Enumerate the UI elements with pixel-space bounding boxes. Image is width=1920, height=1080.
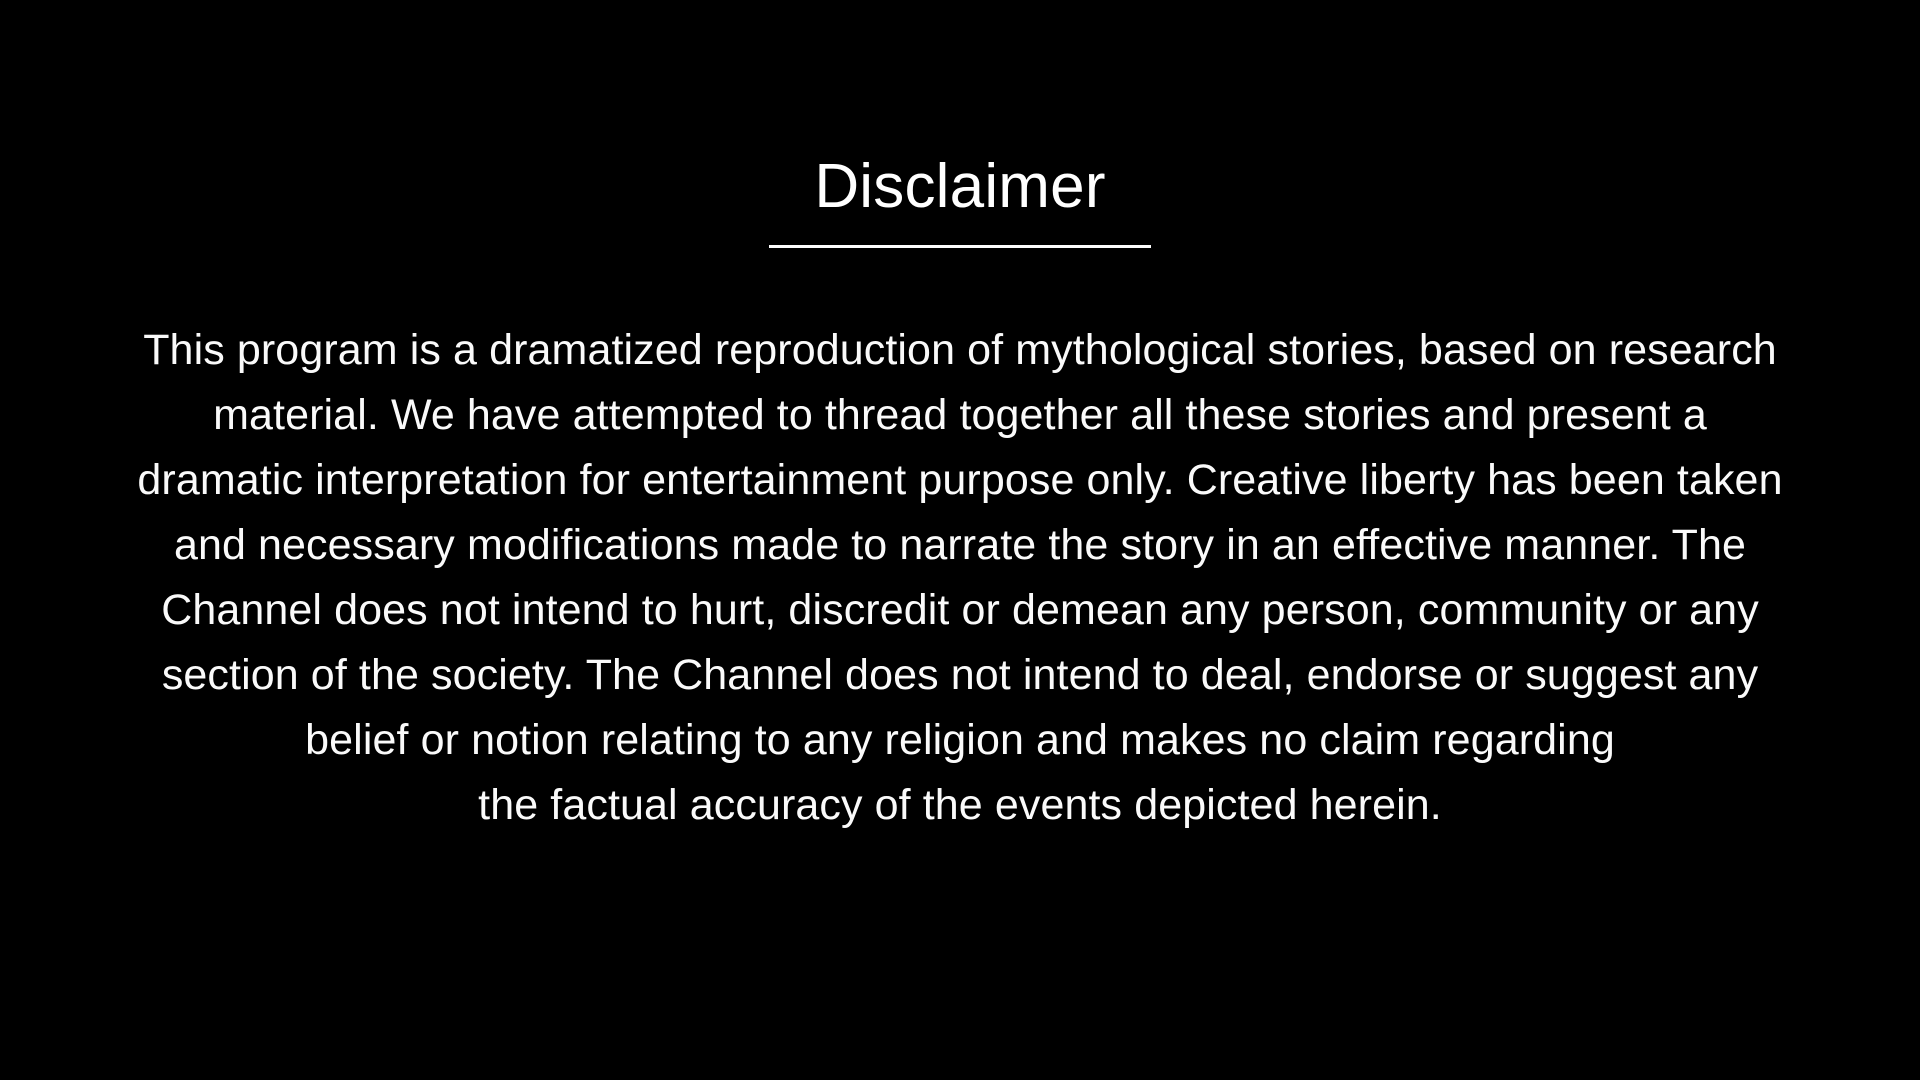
title-block: Disclaimer: [0, 150, 1920, 248]
disclaimer-line: Channel does not intend to hurt, discred…: [120, 578, 1800, 643]
disclaimer-line: the factual accuracy of the events depic…: [120, 773, 1800, 838]
disclaimer-line: and necessary modifications made to narr…: [120, 513, 1800, 578]
disclaimer-text-block: This program is a dramatized reproductio…: [120, 318, 1800, 838]
disclaimer-line: material. We have attempted to thread to…: [120, 383, 1800, 448]
page-title: Disclaimer: [0, 150, 1920, 224]
title-underline-rule: [769, 245, 1151, 248]
disclaimer-line: This program is a dramatized reproductio…: [120, 318, 1800, 383]
disclaimer-line: section of the society. The Channel does…: [120, 643, 1800, 708]
disclaimer-slide: Disclaimer This program is a dramatized …: [0, 0, 1920, 1080]
disclaimer-line: belief or notion relating to any religio…: [120, 708, 1800, 773]
disclaimer-line: dramatic interpretation for entertainmen…: [120, 448, 1800, 513]
